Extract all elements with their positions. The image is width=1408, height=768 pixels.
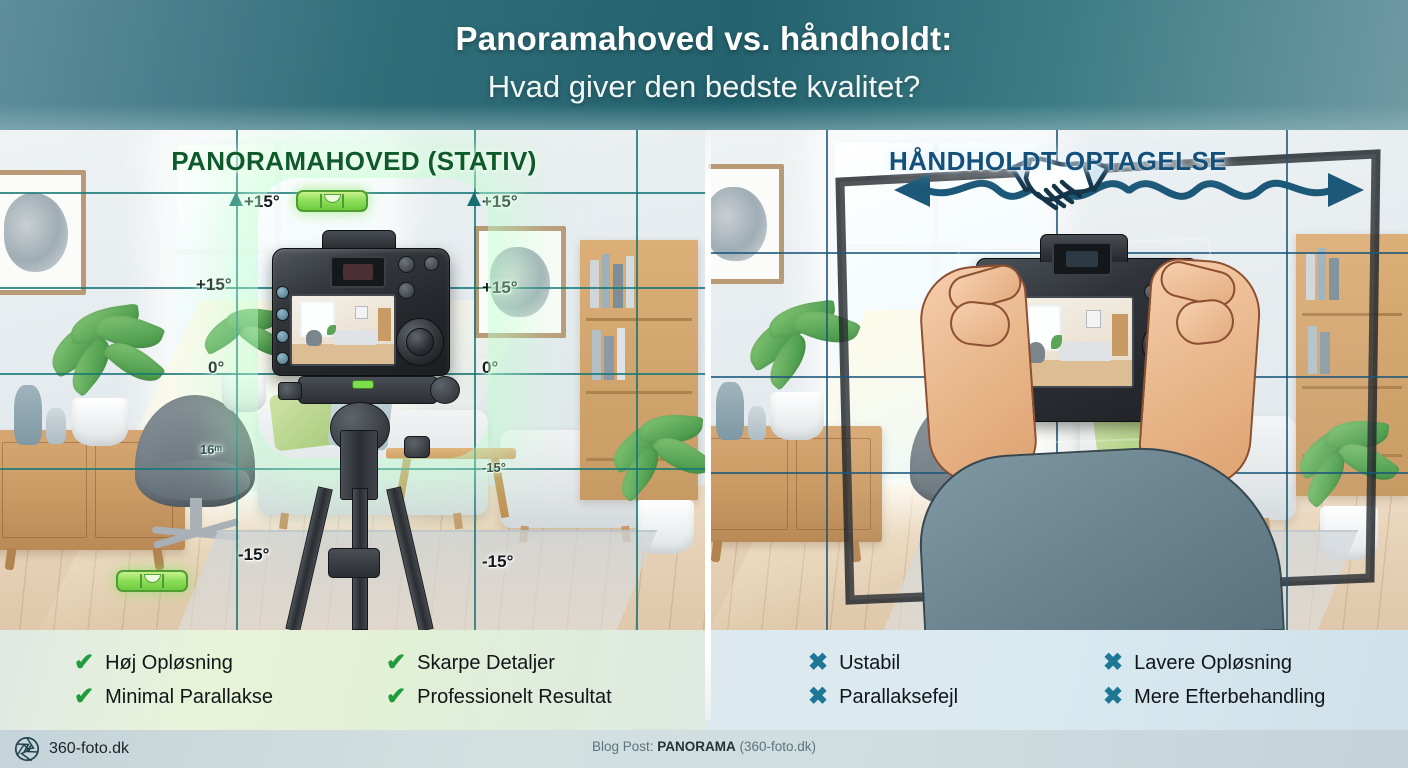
- panel-divider: [705, 130, 711, 720]
- blog-name: PANORAMA: [657, 739, 736, 754]
- check-icon: ✔: [386, 651, 406, 675]
- feature-label: Høj Opløsning: [105, 652, 233, 675]
- panel-handholdt: [708, 130, 1408, 630]
- features-left-bar: ✔ Høj Opløsning ✔ Skarpe Detaljer ✔ Mini…: [0, 630, 708, 730]
- check-icon: ✔: [386, 685, 406, 709]
- right-panel-heading: HÅNDHOLDT OPTAGELSE: [708, 146, 1408, 177]
- blog-prefix: Blog Post:: [592, 739, 657, 754]
- feature-label: Lavere Opløsning: [1134, 652, 1292, 675]
- camera-side-button-1[interactable]: [276, 286, 289, 299]
- grid-line-v-right-1: [826, 130, 828, 630]
- left-room-scene: +15° +15° 0° -15° 16ᵐ +15° +15° 0° -15° …: [0, 130, 708, 630]
- features-right-bar: ✖ Ustabil ✖ Lavere Opløsning ✖ Parallaks…: [708, 630, 1408, 730]
- camera-side-button-4[interactable]: [276, 352, 289, 365]
- camera-side-button-3[interactable]: [276, 330, 289, 343]
- camera-button-2[interactable]: [398, 256, 415, 273]
- footer-bar: 360-foto.dk Blog Post: PANORAMA (360-fot…: [0, 730, 1408, 768]
- infographic-root: +15° +15° 0° -15° 16ᵐ +15° +15° 0° -15° …: [0, 0, 1408, 768]
- feature-label: Skarpe Detaljer: [417, 652, 555, 675]
- cross-icon: ✖: [1103, 685, 1123, 709]
- feature-item: ✔ Skarpe Detaljer: [386, 651, 698, 675]
- angle-label-plus15-c: +15°: [482, 192, 518, 212]
- feature-label: Ustabil: [839, 652, 900, 675]
- head-lever[interactable]: [278, 382, 302, 400]
- feature-item: ✖ Parallaksefejl: [808, 685, 1103, 709]
- panel-panoramahoved: +15° +15° 0° -15° 16ᵐ +15° +15° 0° -15° …: [0, 130, 708, 630]
- camera-button-1[interactable]: [398, 282, 415, 299]
- cross-icon: ✖: [808, 685, 828, 709]
- blog-suffix: (360-foto.dk): [736, 739, 816, 754]
- feature-item: ✖ Lavere Opløsning: [1103, 651, 1398, 675]
- feature-item: ✖ Ustabil: [808, 651, 1103, 675]
- left-panel-heading: PANORAMAHOVED (STATIV): [0, 146, 708, 177]
- tripod-leg-clamp[interactable]: [328, 548, 380, 578]
- vase-small: [46, 408, 66, 444]
- feature-item: ✔ Høj Opløsning: [74, 651, 386, 675]
- feature-label: Minimal Parallakse: [105, 686, 273, 709]
- feature-label: Professionelt Resultat: [417, 686, 612, 709]
- check-icon: ✔: [74, 651, 94, 675]
- feature-label: Parallaksefejl: [839, 686, 958, 709]
- camera-side-button-2[interactable]: [276, 308, 289, 321]
- angle-label-zero-a: 0°: [208, 358, 224, 378]
- page-subtitle: Hvad giver den bedste kvalitet?: [0, 69, 1408, 105]
- vase: [14, 385, 42, 445]
- cross-icon: ✖: [1103, 651, 1123, 675]
- bubble-level-floor: [116, 570, 188, 592]
- angle-label-small: 16ᵐ: [200, 442, 222, 457]
- tilt-arrow-left: [229, 192, 243, 206]
- feature-label: Mere Efterbehandling: [1134, 686, 1325, 709]
- wall-picture: [0, 170, 86, 295]
- right-room-scene: [708, 130, 1408, 630]
- head-bubble-level: [352, 380, 374, 389]
- camera-button-3[interactable]: [424, 256, 439, 271]
- feature-item: ✖ Mere Efterbehandling: [1103, 685, 1398, 709]
- feature-item: ✔ Professionelt Resultat: [386, 685, 698, 709]
- handheld-viewfinder: [1052, 242, 1112, 276]
- title-banner: Panoramahoved vs. håndholdt: Hvad giver …: [0, 0, 1408, 130]
- viewfinder: [330, 256, 386, 288]
- control-dial-inner[interactable]: [406, 328, 434, 356]
- grid-line-v-3: [636, 130, 638, 630]
- page-title: Panoramahoved vs. håndholdt:: [0, 20, 1408, 58]
- check-icon: ✔: [74, 685, 94, 709]
- cross-icon: ✖: [808, 651, 828, 675]
- angle-label-minus15-a: -15°: [238, 545, 269, 565]
- angle-label-minus15-c: -15°: [482, 460, 506, 475]
- plant-pot: [72, 398, 128, 446]
- blog-post-line: Blog Post: PANORAMA (360-foto.dk): [0, 739, 1408, 754]
- bubble-level-top: [296, 190, 368, 212]
- feature-item: ✔ Minimal Parallakse: [74, 685, 386, 709]
- tripod-lock-knob[interactable]: [404, 436, 430, 458]
- head-knob[interactable]: [430, 376, 460, 404]
- angle-label-minus15-b: -15°: [482, 552, 513, 572]
- camera-lcd: [290, 294, 396, 366]
- angle-label-plus15-b: +15°: [196, 275, 232, 295]
